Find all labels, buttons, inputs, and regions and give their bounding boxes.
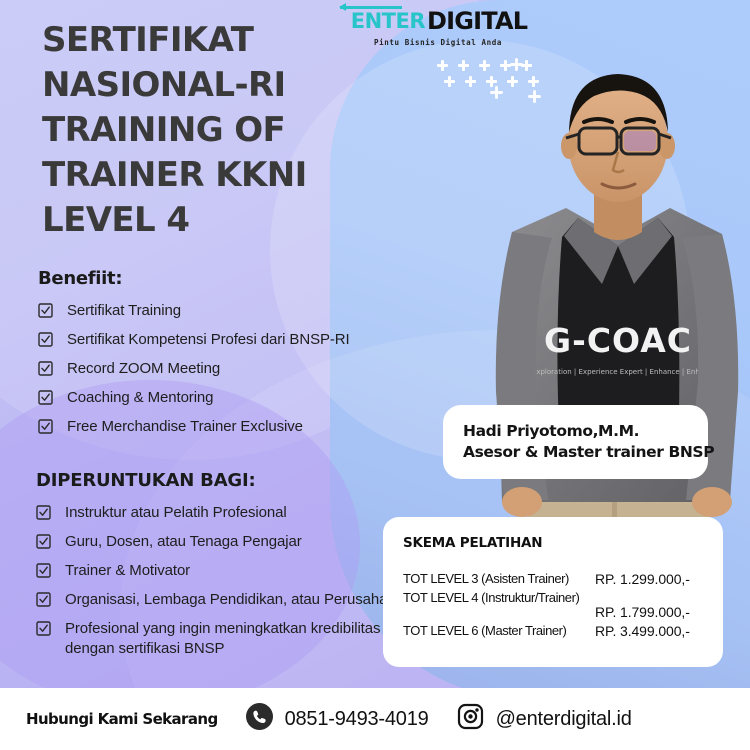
trainer-role: Asesor & Master trainer BNSP	[463, 442, 690, 463]
list-item-label: Instruktur atau Pelatih Profesional	[65, 503, 287, 523]
price-row: TOT LEVEL 4 (Instruktur/Trainer) RP. 1.7…	[403, 590, 707, 620]
list-item-label: Organisasi, Lembaga Pendidikan, atau Per…	[65, 590, 404, 610]
price-row: TOT LEVEL 6 (Master Trainer) RP. 3.499.0…	[403, 623, 707, 639]
footer-cta-text: Hubungi Kami Sekarang	[26, 710, 218, 728]
list-item-label: Coaching & Mentoring	[67, 388, 213, 408]
list-item: Trainer & Motivator	[36, 561, 406, 581]
checkbox-check-icon	[38, 361, 53, 376]
list-item: Record ZOOM Meeting	[38, 359, 398, 379]
plus-icon	[507, 76, 518, 87]
promotional-poster: G-COAC Exploration | Experience Expert |…	[0, 0, 750, 750]
list-item-label: Sertifikat Kompetensi Profesi dari BNSP-…	[67, 330, 350, 350]
sparkle-icon	[510, 58, 523, 71]
price-amount: RP. 3.499.000,-	[595, 623, 690, 639]
plus-icon	[528, 76, 539, 87]
checkbox-check-icon	[38, 332, 53, 347]
list-item: Coaching & Mentoring	[38, 388, 398, 408]
trainer-name-card: Hadi Priyotomo,M.M. Asesor & Master trai…	[443, 405, 708, 479]
checkbox-check-icon	[36, 505, 51, 520]
plus-icon	[458, 60, 469, 71]
plus-pattern-decoration	[437, 60, 539, 87]
checkbox-check-icon	[36, 534, 51, 549]
plus-icon	[479, 60, 490, 71]
svg-text:G-COAC: G-COAC	[544, 321, 692, 360]
list-item: Instruktur atau Pelatih Profesional	[36, 503, 406, 523]
checkbox-check-icon	[36, 592, 51, 607]
target-section-title: DIPERUNTUKAN BAGI:	[36, 470, 406, 491]
trainer-name: Hadi Priyotomo,M.M.	[463, 421, 690, 442]
plus-icon	[444, 76, 455, 87]
phone-number: 0851-9493-4019	[285, 708, 429, 731]
list-item-label: Record ZOOM Meeting	[67, 359, 220, 379]
phone-contact[interactable]: 0851-9493-4019	[246, 703, 429, 735]
instagram-contact[interactable]: @enterdigital.id	[457, 703, 632, 735]
list-item: Guru, Dosen, atau Tenaga Pengajar	[36, 532, 406, 552]
headline-line: TRAINER KKNI	[42, 153, 372, 198]
list-item-label: Guru, Dosen, atau Tenaga Pengajar	[65, 532, 302, 552]
plus-icon	[437, 60, 448, 71]
svg-text:Exploration | Experience Exper: Exploration | Experience Expert | Enhanc…	[532, 368, 704, 376]
contact-footer: Hubungi Kami Sekarang 0851-9493-4019 @en…	[0, 688, 750, 750]
checkbox-check-icon	[38, 303, 53, 318]
checkbox-check-icon	[38, 390, 53, 405]
list-item-label: Profesional yang ingin meningkatkan kred…	[65, 619, 406, 659]
headline-line: SERTIFIKAT	[42, 18, 372, 63]
list-item: Profesional yang ingin meningkatkan kred…	[36, 619, 406, 659]
price-row: TOT LEVEL 3 (Asisten Trainer) RP. 1.299.…	[403, 571, 707, 587]
logo-enter-text: ENTER	[349, 11, 427, 32]
benefit-section-title: Benefiit:	[38, 268, 398, 289]
list-item-label: Trainer & Motivator	[65, 561, 190, 581]
brand-logo: ENTER DIGITAL Pintu Bisnis Digital Anda	[358, 8, 518, 47]
headline-line: NASIONAL-RI	[42, 63, 372, 108]
list-item: Free Merchandise Trainer Exclusive	[38, 417, 398, 437]
price-scheme-label: TOT LEVEL 6 (Master Trainer)	[403, 623, 595, 639]
price-scheme-label: TOT LEVEL 3 (Asisten Trainer)	[403, 571, 595, 587]
instagram-handle: @enterdigital.id	[496, 708, 632, 731]
list-item: Sertifikat Training	[38, 301, 398, 321]
phone-icon	[246, 703, 273, 735]
list-item: Organisasi, Lembaga Pendidikan, atau Per…	[36, 590, 406, 610]
headline-line: LEVEL 4	[42, 198, 372, 243]
price-amount: RP. 1.799.000,-	[595, 604, 690, 620]
checkbox-check-icon	[36, 621, 51, 636]
page-title: SERTIFIKAT NASIONAL-RI TRAINING OF TRAIN…	[42, 18, 372, 243]
list-item-label: Free Merchandise Trainer Exclusive	[67, 417, 303, 437]
target-audience-section: DIPERUNTUKAN BAGI: Instruktur atau Pelat…	[36, 470, 406, 668]
instagram-icon	[457, 703, 484, 735]
benefit-section: Benefiit: Sertifikat Training Sertifikat…	[38, 268, 398, 446]
sparkle-icon	[528, 90, 541, 103]
checkbox-check-icon	[38, 419, 53, 434]
logo-digital-text: DIGITAL	[427, 9, 527, 33]
pricing-card: SKEMA PELATIHAN TOT LEVEL 3 (Asisten Tra…	[383, 517, 723, 667]
checkbox-check-icon	[36, 563, 51, 578]
list-item: Sertifikat Kompetensi Profesi dari BNSP-…	[38, 330, 398, 350]
list-item-label: Sertifikat Training	[67, 301, 181, 321]
plus-icon	[465, 76, 476, 87]
logo-tagline: Pintu Bisnis Digital Anda	[358, 38, 518, 47]
price-amount: RP. 1.299.000,-	[595, 571, 690, 587]
sparkle-icon	[490, 86, 503, 99]
pricing-title: SKEMA PELATIHAN	[403, 535, 707, 551]
headline-line: TRAINING OF	[42, 108, 372, 153]
price-scheme-label: TOT LEVEL 4 (Instruktur/Trainer)	[403, 590, 595, 606]
